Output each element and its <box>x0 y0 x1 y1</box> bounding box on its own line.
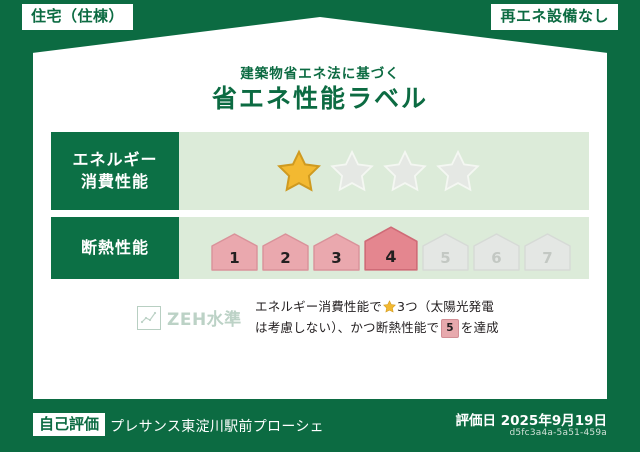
insulation-level-number: 6 <box>473 249 520 267</box>
insulation-performance-row: 断熱性能 1234567 <box>51 217 589 279</box>
insulation-rating-content: 1234567 <box>179 217 589 279</box>
zeh-note-row: ZEH水準 エネルギー消費性能で3つ（太陽光発電 は考慮しない）、かつ断熱性能で… <box>51 297 589 338</box>
zeh-criteria-line1: エネルギー消費性能で3つ（太陽光発電 <box>255 297 499 318</box>
evaluation-id: d5fc3a4a-5a51-459a <box>509 428 607 438</box>
inline-star-icon <box>383 300 396 313</box>
star-empty-icon <box>382 149 428 193</box>
star-empty-icon <box>435 149 481 193</box>
zeh-standard-marker: ZEH水準 <box>137 305 255 330</box>
insulation-level-6: 6 <box>473 233 520 271</box>
energy-consumption-row: エネルギー 消費性能 <box>51 132 589 210</box>
insulation-level-scale: 1234567 <box>211 226 571 271</box>
insulation-level-number: 4 <box>364 247 418 266</box>
insulation-level-7: 7 <box>524 233 571 271</box>
insulation-level-3: 3 <box>313 233 360 271</box>
insulation-level-number: 3 <box>313 249 360 267</box>
label-panel: 建築物省エネ法に基づく 省エネ性能ラベル エネルギー 消費性能 断熱性能 <box>33 17 607 399</box>
star-filled-icon <box>276 149 322 193</box>
insulation-level-number: 7 <box>524 249 571 267</box>
zeh-line1-part-a: エネルギー消費性能で <box>255 299 382 314</box>
inline-level-badge: 5 <box>441 319 459 338</box>
self-evaluation-badge: 自己評価 <box>33 413 105 436</box>
star-rating <box>276 149 481 193</box>
zeh-line1-part-b: 3つ（太陽光発電 <box>397 299 494 314</box>
zeh-criteria-line2: は考慮しない）、かつ断熱性能で5を達成 <box>255 318 499 339</box>
insulation-performance-label: 断熱性能 <box>51 217 179 279</box>
insulation-level-number: 1 <box>211 249 258 267</box>
zeh-label: ZEH水準 <box>167 305 242 330</box>
label-title: 省エネ性能ラベル <box>33 79 607 115</box>
insulation-level-4: 4 <box>364 226 418 271</box>
insulation-level-number: 5 <box>422 249 469 267</box>
star-empty-icon <box>329 149 375 193</box>
insulation-level-number: 2 <box>262 249 309 267</box>
zeh-line2-part-a: は考慮しない）、かつ断熱性能で <box>255 320 439 335</box>
property-name: プレサンス東淀川駅前プローシェ <box>110 416 324 436</box>
energy-label-line1: エネルギー <box>72 149 157 171</box>
building-type-badge: 住宅（住棟） <box>22 4 133 30</box>
label-footer: 自己評価 プレサンス東淀川駅前プローシェ 評価日 2025年9月19日 d5fc… <box>0 400 640 452</box>
energy-label-line2: 消費性能 <box>81 171 149 193</box>
renewable-energy-badge: 再エネ設備なし <box>491 4 618 30</box>
insulation-level-1: 1 <box>211 233 258 271</box>
insulation-label-text: 断熱性能 <box>81 237 149 259</box>
zeh-line2-part-b: を達成 <box>461 320 499 335</box>
energy-rating-content <box>179 132 589 210</box>
insulation-level-5: 5 <box>422 233 469 271</box>
insulation-level-2: 2 <box>262 233 309 271</box>
energy-performance-label: 住宅（住棟） 再エネ設備なし 建築物省エネ法に基づく 省エネ性能ラベル エネルギ… <box>0 0 640 452</box>
energy-consumption-label: エネルギー 消費性能 <box>51 132 179 210</box>
zeh-chart-icon <box>137 306 161 330</box>
zeh-criteria-text: エネルギー消費性能で3つ（太陽光発電 は考慮しない）、かつ断熱性能で5を達成 <box>255 297 499 338</box>
evaluation-date: 評価日 2025年9月19日 <box>456 409 607 429</box>
